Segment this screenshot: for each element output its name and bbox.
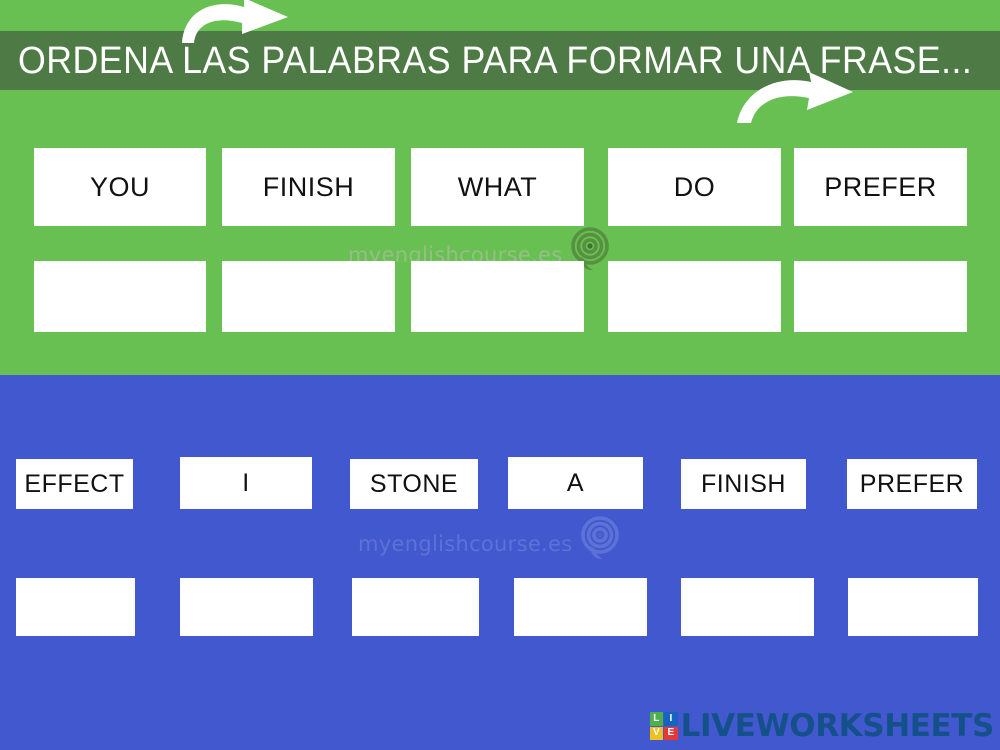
liveworksheets-logo[interactable]: L I V E LIVEWORKSHEETS (650, 708, 994, 744)
word-tile[interactable]: STONE (350, 459, 478, 509)
worksheet: ORDENA LAS PALABRAS PARA FORMAR UNA FRAS… (0, 0, 1000, 750)
answer-drop-box[interactable] (608, 261, 781, 332)
word-tile-label: PREFER (824, 172, 937, 203)
answer-drop-box[interactable] (681, 578, 814, 636)
page-title: ORDENA LAS PALABRAS PARA FORMAR UNA FRAS… (18, 38, 930, 84)
answer-drop-box[interactable] (514, 578, 647, 636)
exercise-green-panel: ORDENA LAS PALABRAS PARA FORMAR UNA FRAS… (0, 0, 1000, 375)
word-tile-label: A (567, 469, 584, 498)
word-tile-label: PREFER (860, 470, 964, 499)
logo-tile-l: L (650, 712, 664, 726)
logo-tile-v: V (650, 727, 664, 741)
word-tile[interactable]: I (180, 457, 312, 509)
watermark-text: myenglishcourse.es (358, 532, 573, 556)
answer-drop-box[interactable] (34, 261, 206, 332)
word-tile[interactable]: DO (608, 148, 781, 226)
word-tile[interactable]: YOU (34, 148, 206, 226)
word-tile[interactable]: PREFER (794, 148, 967, 226)
logo-tile-i: I (664, 712, 678, 726)
watermark-myenglishcourse: myenglishcourse.es (358, 521, 623, 567)
word-tile[interactable]: A (508, 457, 643, 509)
word-tile-label: FINISH (263, 172, 355, 203)
word-tile-label: DO (674, 172, 716, 203)
liveworksheets-tiles-icon: L I V E (650, 712, 678, 740)
answer-drop-box[interactable] (794, 261, 967, 332)
word-tile[interactable]: PREFER (847, 459, 977, 509)
word-tile-label: FINISH (701, 470, 786, 499)
word-tile-label: EFFECT (24, 470, 124, 499)
word-tile[interactable]: WHAT (411, 148, 584, 226)
answer-drop-box[interactable] (352, 578, 479, 636)
word-tile-label: STONE (370, 470, 458, 499)
exercise-blue-panel: myenglishcourse.es EFFECT I STONE A (0, 375, 1000, 750)
word-tile[interactable]: FINISH (222, 148, 395, 226)
answer-drop-box[interactable] (16, 578, 135, 636)
answer-drop-box[interactable] (180, 578, 313, 636)
answer-drop-box[interactable] (222, 261, 395, 332)
word-tile[interactable]: EFFECT (16, 459, 133, 509)
answer-drop-box[interactable] (411, 261, 584, 332)
spiral-target-icon (577, 515, 623, 561)
logo-tile-e: E (664, 727, 678, 741)
word-tile-label: WHAT (458, 172, 537, 203)
word-tile-label: YOU (90, 172, 150, 203)
answer-drop-box[interactable] (848, 578, 978, 636)
word-tile[interactable]: FINISH (681, 459, 806, 509)
word-tile-label: I (242, 469, 249, 498)
liveworksheets-wordmark: LIVEWORKSHEETS (681, 708, 994, 744)
